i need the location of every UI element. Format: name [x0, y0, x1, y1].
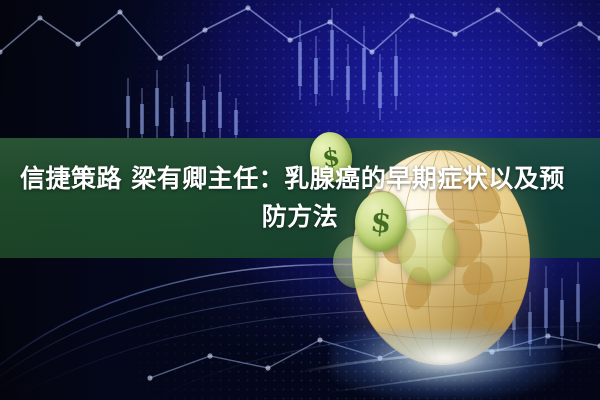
headline-line-1: 信捷策路 梁有卿主任：乳腺癌的早期症状以及预	[16, 160, 584, 198]
globe-base-glow	[330, 330, 560, 400]
candlestick-group-top	[126, 8, 398, 142]
headline-line-2: 防方法	[16, 198, 584, 236]
headline-text: 信捷策路 梁有卿主任：乳腺癌的早期症状以及预 防方法	[0, 160, 600, 236]
banner-image: $ $ 信捷策路 梁有卿主任：乳腺癌的早期症状以及预 防方法	[0, 0, 600, 400]
